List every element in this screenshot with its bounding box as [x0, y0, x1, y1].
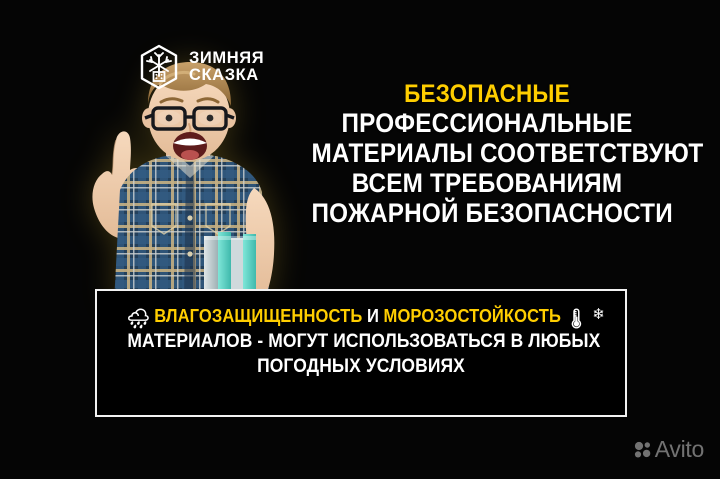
- rain-cloud-icon: 🌧: [126, 310, 150, 329]
- brand-wordmark: ЗИМНЯЯ СКАЗКА: [189, 50, 264, 84]
- avito-watermark: Avito: [634, 438, 704, 461]
- headline: БЕЗОПАСНЫЕ ПРОФЕССИОНАЛЬНЫЕ МАТЕРИАЛЫ СО…: [292, 80, 682, 228]
- feature-conjunction: И: [367, 306, 379, 326]
- headline-line-2: ПРОФЕССИОНАЛЬНЫЕ: [312, 108, 663, 138]
- feature-word-moisture: ВЛАГОЗАЩИЩЕННОСТЬ: [154, 306, 362, 326]
- brand-line-2: СКАЗКА: [189, 67, 264, 84]
- snowflake-icon: ❄: [592, 307, 605, 322]
- feature-row-1: 🌧ВЛАГОЗАЩИЩЕННОСТЬИМОРОЗОСТОЙКОСТЬ🌡❄: [127, 304, 594, 329]
- headline-line-1: БЕЗОПАСНЫЕ: [312, 80, 663, 108]
- brand-logo: ЗИМНЯЯ СКАЗКА: [138, 44, 264, 90]
- feature-row-2: МАТЕРИАЛОВ - МОГУТ ИСПОЛЬЗОВАТЬСЯ В ЛЮБЫ…: [127, 329, 594, 354]
- avito-dots-icon: [634, 441, 651, 458]
- feature-box: 🌧ВЛАГОЗАЩИЩЕННОСТЬИМОРОЗОСТОЙКОСТЬ🌡❄ МАТ…: [95, 289, 627, 417]
- hexagon-snowflake-logo-icon: [138, 44, 180, 90]
- avito-label: Avito: [655, 438, 704, 461]
- promo-poster: ЗИМНЯЯ СКАЗКА БЕЗОПАСНЫЕ ПРОФЕССИОНАЛЬНЫ…: [0, 0, 720, 479]
- brand-line-1: ЗИМНЯЯ: [189, 50, 264, 67]
- feature-box-content: 🌧ВЛАГОЗАЩИЩЕННОСТЬИМОРОЗОСТОЙКОСТЬ🌡❄ МАТ…: [97, 304, 625, 379]
- feature-row-3: ПОГОДНЫХ УСЛОВИЯХ: [127, 354, 594, 379]
- thermometer-icon: 🌡: [565, 310, 589, 329]
- feature-word-frost: МОРОЗОСТОЙКОСТЬ: [384, 306, 561, 326]
- headline-line-3: МАТЕРИАЛЫ СООТВЕТСТВУЮТ: [312, 138, 663, 168]
- boy-with-glasses-holding-books-photo: [48, 58, 313, 303]
- headline-line-4: ВСЕМ ТРЕБОВАНИЯМ: [312, 168, 663, 198]
- headline-line-5: ПОЖАРНОЙ БЕЗОПАСНОСТИ: [312, 198, 663, 228]
